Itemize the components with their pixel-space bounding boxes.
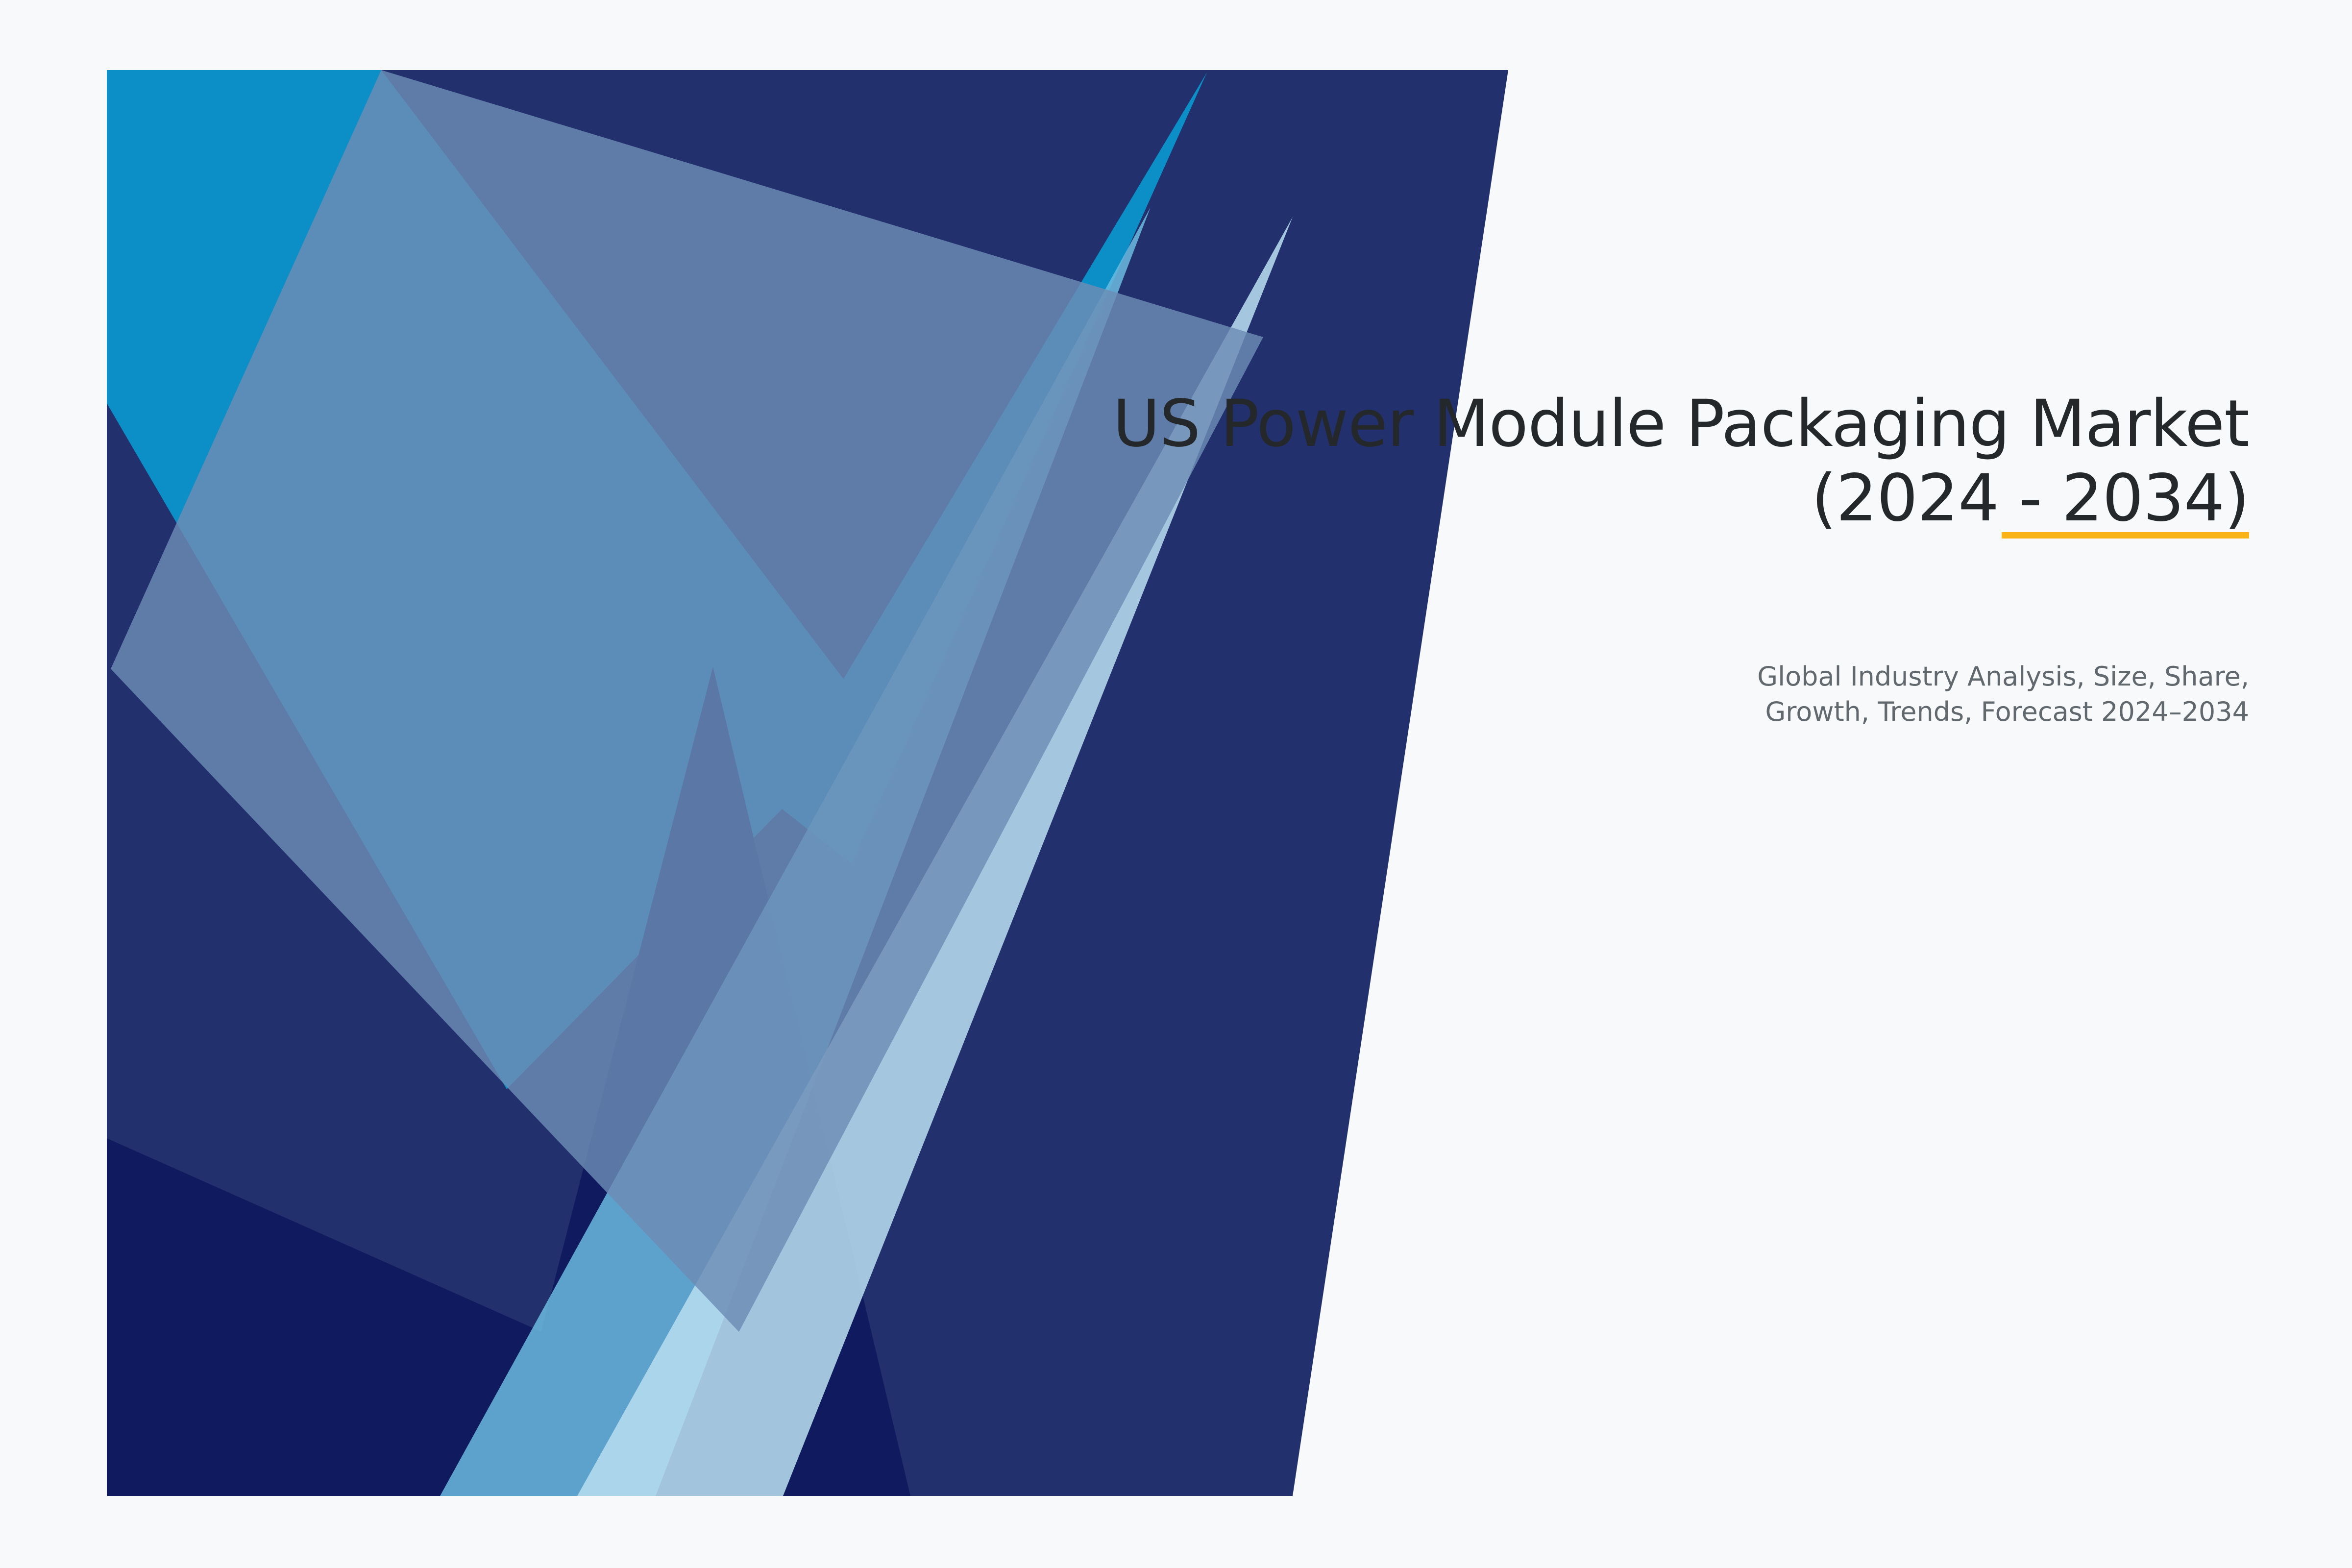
cover-text-block: US Power Module Packaging Market (2024 -…	[735, 387, 2249, 536]
report-cover-page: US Power Module Packaging Market (2024 -…	[0, 0, 2352, 1568]
title-underline-bar	[2002, 532, 2249, 539]
page-subtitle: Global Industry Analysis, Size, Share, G…	[779, 659, 2249, 730]
page-title: US Power Module Packaging Market (2024 -…	[735, 387, 2249, 536]
abstract-geometric-cover-graphic	[107, 70, 1508, 1496]
